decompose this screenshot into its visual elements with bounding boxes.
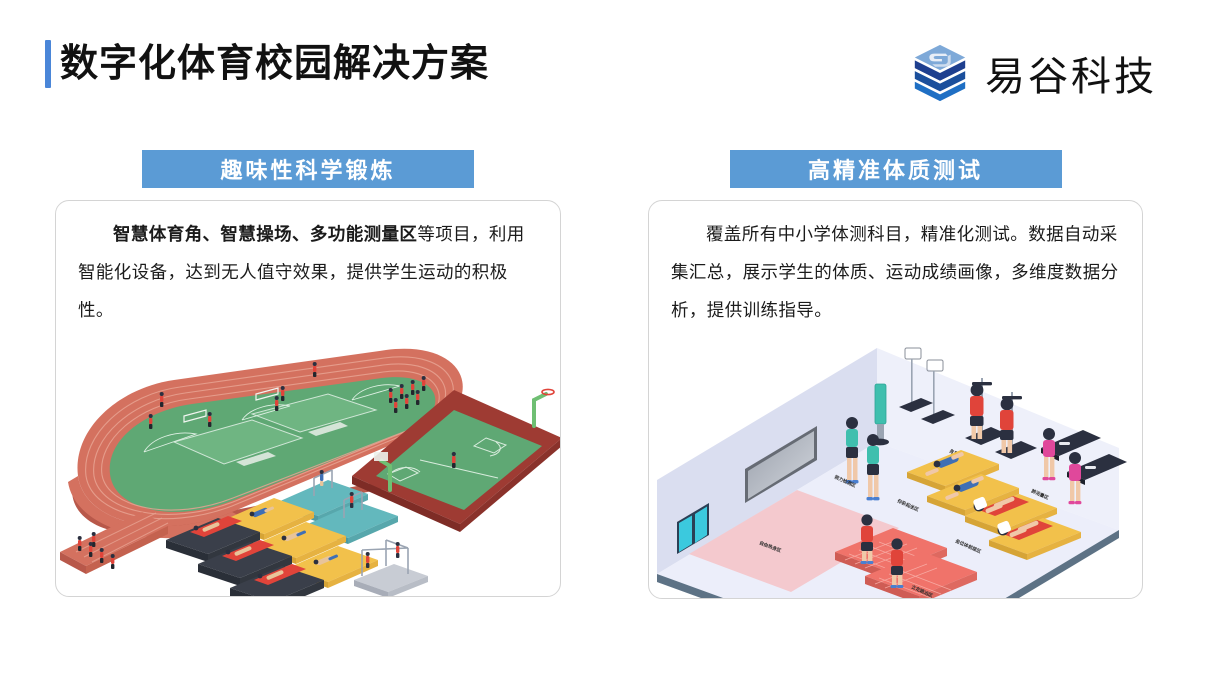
title-accent-bar	[45, 40, 51, 88]
content-columns: 趣味性科学锻炼 智慧体育角、智慧操场、多功能测量区等项目，利用智能化设备，达到无…	[0, 150, 1212, 650]
brand-lockup: 易谷科技	[909, 42, 1157, 104]
slide-root: 数字化体育校园解决方案 易谷科技 趣味性科学锻炼 智慧体育角、智慧操场、	[0, 0, 1212, 677]
card-text-high-precision-fitness-test: 覆盖所有中小学体测科目，精准化测试。数据自动采集汇总，展示学生的体质、运动成绩画…	[649, 201, 1142, 329]
banner-fun-scientific-exercise: 趣味性科学锻炼	[142, 150, 474, 188]
isometric-sports-field-illustration	[56, 334, 560, 596]
card-text-body-right: 覆盖所有中小学体测科目，精准化测试。数据自动采集汇总，展示学生的体质、运动成绩画…	[671, 224, 1119, 320]
card-fun-scientific-exercise: 智慧体育角、智慧操场、多功能测量区等项目，利用智能化设备，达到无人值守效果，提供…	[55, 200, 561, 597]
card-high-precision-fitness-test: 覆盖所有中小学体测科目，精准化测试。数据自动采集汇总，展示学生的体质、运动成绩画…	[648, 200, 1143, 599]
slide-header: 数字化体育校园解决方案 易谷科技	[0, 0, 1212, 140]
card-text-bold-left: 智慧体育角、智慧操场、多功能测量区	[113, 224, 417, 244]
card-text-fun-scientific-exercise: 智慧体育角、智慧操场、多功能测量区等项目，利用智能化设备，达到无人值守效果，提供…	[56, 201, 560, 329]
brand-name: 易谷科技	[985, 44, 1157, 102]
page-title: 数字化体育校园解决方案	[60, 40, 489, 88]
isometric-fitness-test-room-illustration: 自由热身区	[649, 330, 1142, 598]
column-high-precision-fitness-test: 高精准体质测试 覆盖所有中小学体测科目，精准化测试。数据自动采集汇总，展示学生的…	[648, 150, 1143, 599]
page-title-group: 数字化体育校园解决方案	[45, 40, 489, 88]
banner-high-precision-fitness-test: 高精准体质测试	[730, 150, 1062, 188]
layered-cube-logo-icon	[909, 42, 971, 104]
column-fun-scientific-exercise: 趣味性科学锻炼 智慧体育角、智慧操场、多功能测量区等项目，利用智能化设备，达到无…	[55, 150, 561, 597]
